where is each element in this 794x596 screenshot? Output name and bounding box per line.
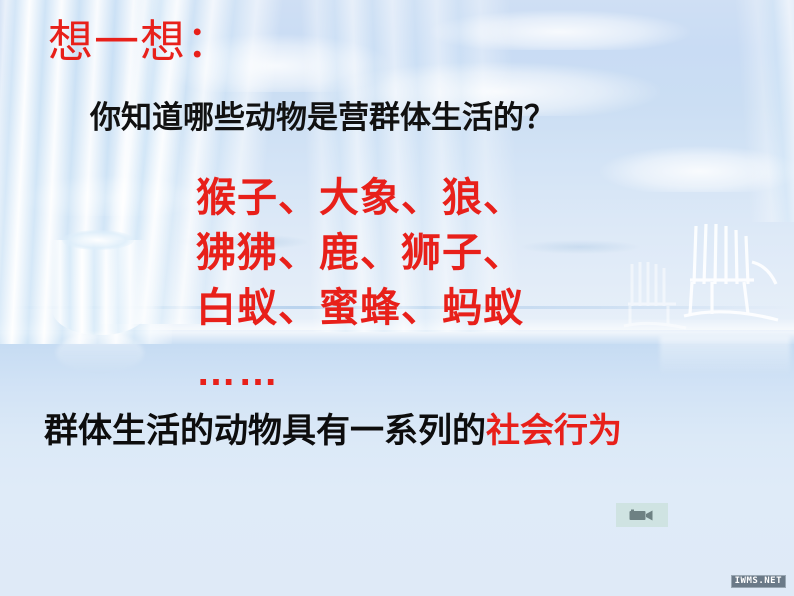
video-camera-icon: [629, 509, 655, 522]
video-play-button[interactable]: [616, 503, 668, 527]
animal-list-ellipsis: ……: [196, 352, 280, 392]
curtain-skirt: [52, 240, 148, 335]
distant-shore: [520, 240, 640, 254]
rocking-chair-icon: [682, 222, 786, 334]
presentation-slide: 想一想： 你知道哪些动物是营群体生活的？ 猴子、大象、狼、 狒狒、鹿、狮子、 白…: [0, 0, 794, 596]
chair-reflection: [660, 336, 790, 376]
question-text: 你知道哪些动物是营群体生活的？: [90, 102, 555, 133]
conclusion-text: 群体生活的动物具有一系列的社会行为: [44, 414, 622, 448]
conclusion-prefix: 群体生活的动物具有一系列的: [44, 412, 486, 450]
conclusion-highlight: 社会行为: [486, 412, 622, 450]
animal-list-line-2: 狒狒、鹿、狮子、: [196, 233, 524, 273]
curtain-reflection: [56, 333, 144, 373]
animal-list-line-1: 猴子、大象、狼、: [196, 178, 524, 218]
curtain-center: [300, 0, 522, 332]
curtain-tieback: [62, 230, 134, 250]
animal-list-line-3: 白蚁、蜜蜂、蚂蚁: [196, 288, 524, 328]
watermark-label: IWMS.NET: [731, 575, 786, 588]
slide-title: 想一想：: [48, 20, 232, 65]
